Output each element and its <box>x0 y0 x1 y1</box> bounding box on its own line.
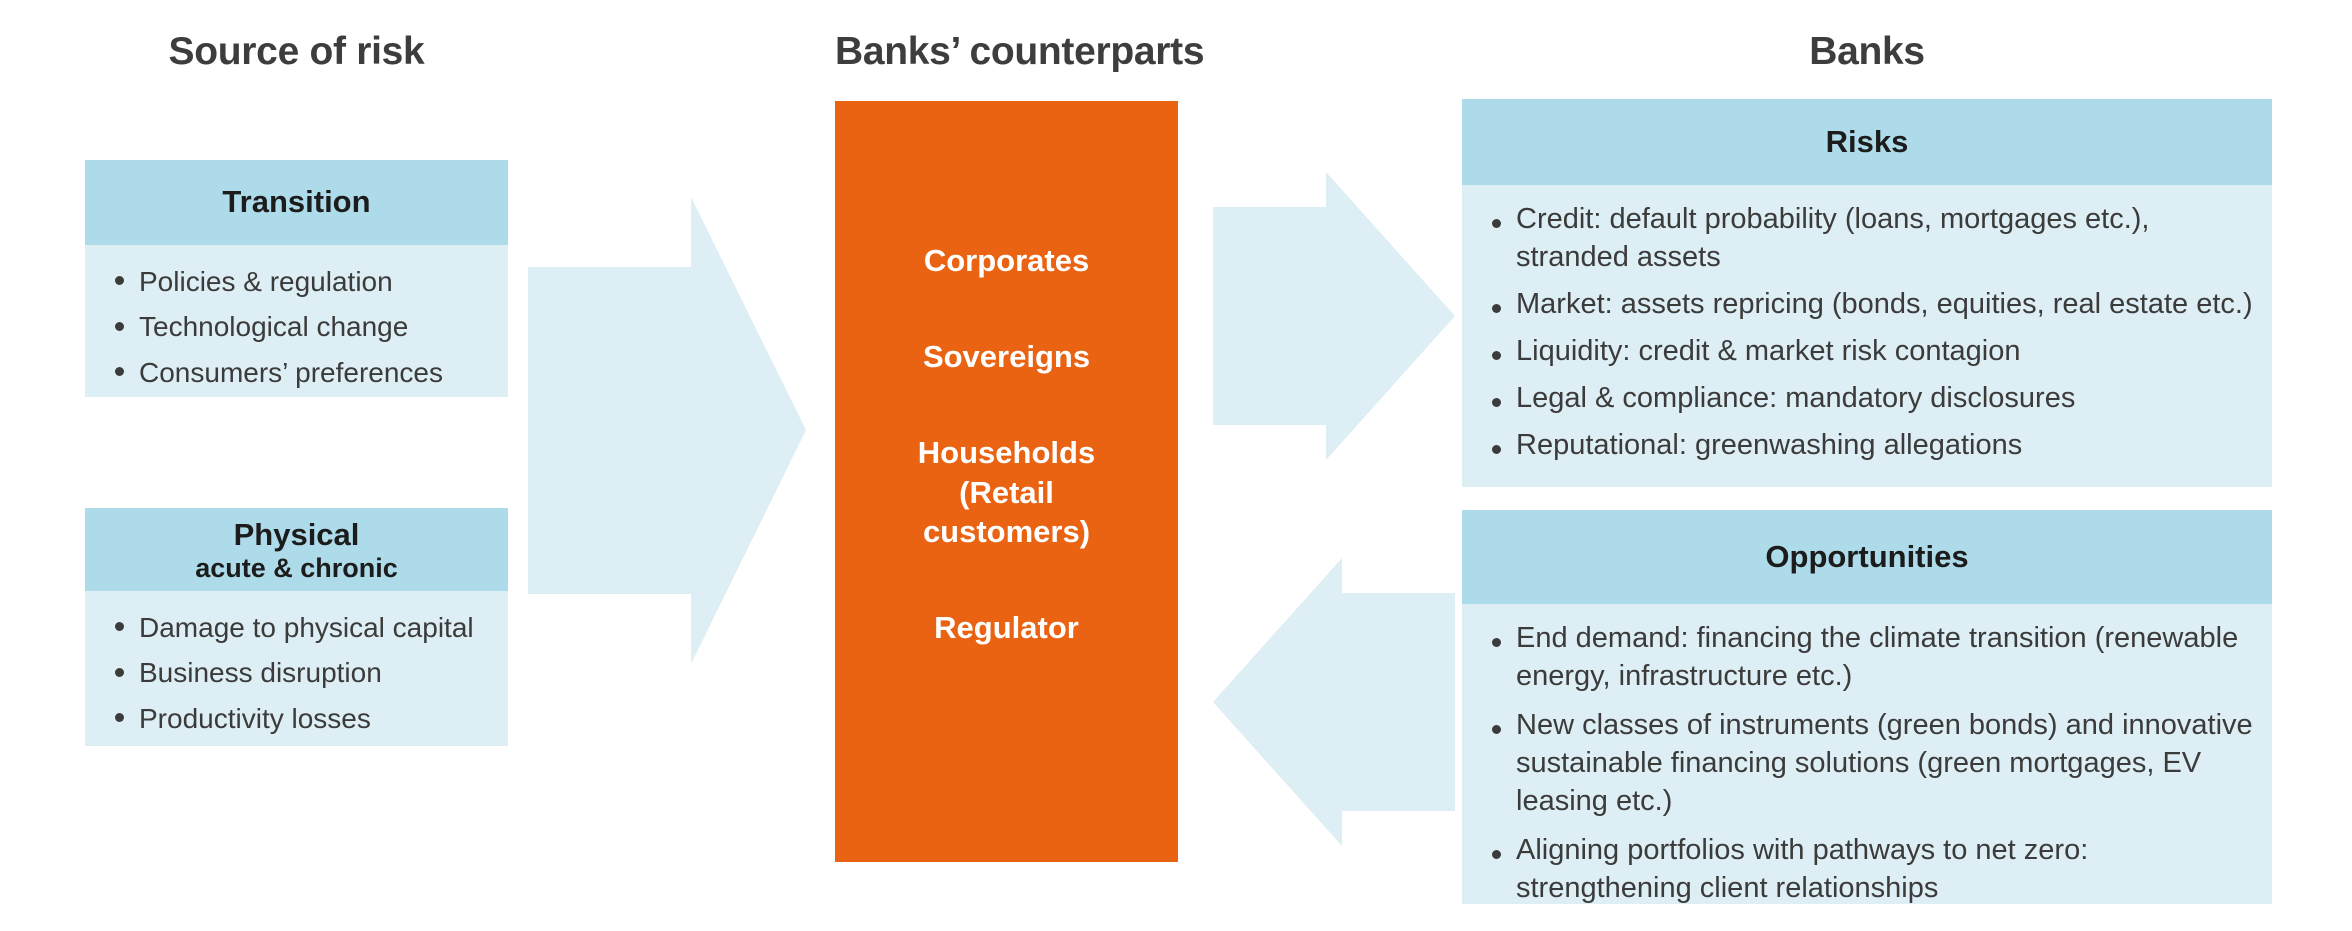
card-physical-header: Physical acute & chronic <box>85 508 508 591</box>
card-risks-title: Risks <box>1826 125 1909 160</box>
list-item: Consumers’ preferences <box>107 350 490 395</box>
list-item: Business disruption <box>107 650 490 695</box>
counterpart-households-line3: customers) <box>847 512 1166 552</box>
physical-list: Damage to physical capital Business disr… <box>107 605 490 741</box>
list-item: Market: assets repricing (bonds, equitie… <box>1484 286 2254 324</box>
arrow-opportunities-to-counterparts-icon <box>1213 558 1455 846</box>
column-title-banks-counterparts: Banks’ counterparts <box>835 30 1178 74</box>
card-opportunities: Opportunities End demand: financing the … <box>1462 510 2272 904</box>
column-title-source-of-risk: Source of risk <box>85 30 508 74</box>
card-risks: Risks Credit: default probability (loans… <box>1462 99 2272 487</box>
card-risks-body: Credit: default probability (loans, mort… <box>1462 185 2272 487</box>
list-item: Productivity losses <box>107 696 490 741</box>
list-item: Policies & regulation <box>107 259 490 304</box>
list-item: Credit: default probability (loans, mort… <box>1484 201 2254 277</box>
list-item: Legal & compliance: mandatory disclosure… <box>1484 380 2254 418</box>
list-item: Reputational: greenwashing allegations <box>1484 427 2254 465</box>
card-physical-title: Physical <box>234 518 360 553</box>
card-opportunities-title: Opportunities <box>1765 540 1968 575</box>
card-physical: Physical acute & chronic Damage to physi… <box>85 508 508 746</box>
list-item: Technological change <box>107 304 490 349</box>
counterpart-households-line1: Households <box>847 433 1166 473</box>
card-opportunities-header: Opportunities <box>1462 510 2272 604</box>
card-transition-title: Transition <box>222 185 370 220</box>
counterparts-block: Corporates Sovereigns Households (Retail… <box>835 101 1178 862</box>
card-risks-header: Risks <box>1462 99 2272 185</box>
card-physical-body: Damage to physical capital Business disr… <box>85 591 508 746</box>
column-title-banks: Banks <box>1462 30 2272 74</box>
risks-list: Credit: default probability (loans, mort… <box>1484 201 2254 465</box>
list-item: End demand: financing the climate transi… <box>1484 620 2254 696</box>
list-item: New classes of instruments (green bonds)… <box>1484 707 2254 821</box>
arrow-counterparts-to-risks-icon <box>1213 172 1455 460</box>
counterpart-households-line2: (Retail <box>847 473 1166 513</box>
counterpart-households: Households (Retail customers) <box>847 433 1166 552</box>
counterpart-corporates: Corporates <box>847 241 1166 281</box>
transition-list: Policies & regulation Technological chan… <box>107 259 490 395</box>
list-item: Aligning portfolios with pathways to net… <box>1484 832 2254 908</box>
counterpart-sovereigns: Sovereigns <box>847 337 1166 377</box>
card-opportunities-body: End demand: financing the climate transi… <box>1462 604 2272 904</box>
list-item: Liquidity: credit & market risk contagio… <box>1484 333 2254 371</box>
card-transition-header: Transition <box>85 160 508 245</box>
card-transition-body: Policies & regulation Technological chan… <box>85 245 508 397</box>
card-transition: Transition Policies & regulation Technol… <box>85 160 508 397</box>
counterpart-regulator: Regulator <box>847 608 1166 648</box>
opportunities-list: End demand: financing the climate transi… <box>1484 620 2254 908</box>
list-item: Damage to physical capital <box>107 605 490 650</box>
diagram-canvas: Source of risk Banks’ counterparts Banks… <box>0 0 2352 931</box>
card-physical-subtitle: acute & chronic <box>195 553 398 583</box>
arrow-source-to-counterparts-icon <box>528 197 806 664</box>
